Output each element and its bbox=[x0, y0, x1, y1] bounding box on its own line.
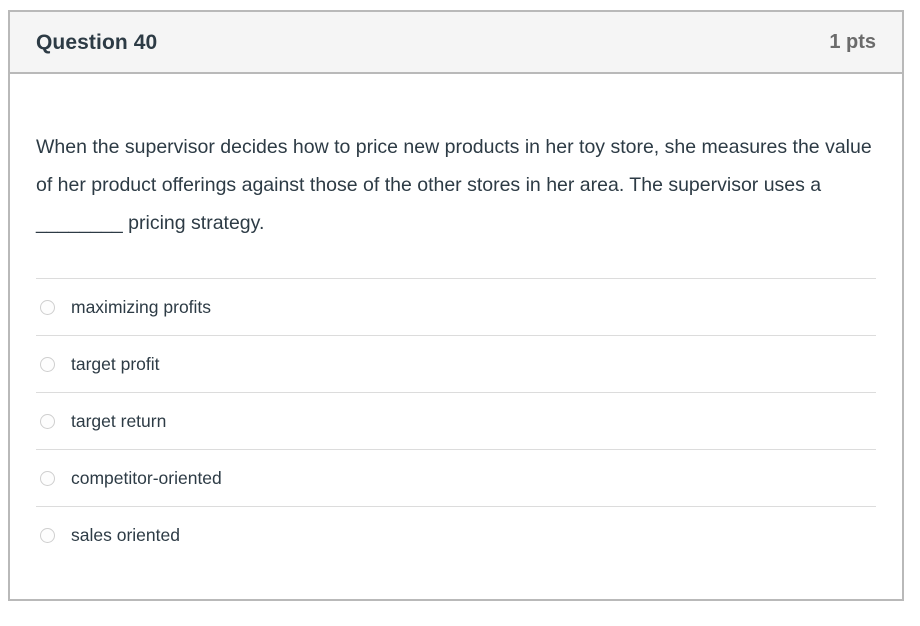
question-points-badge: 1 pts bbox=[829, 32, 876, 52]
answer-option-label: competitor-oriented bbox=[71, 468, 222, 489]
answer-option-label: target return bbox=[71, 411, 166, 432]
radio-button-icon[interactable] bbox=[40, 414, 55, 429]
radio-button-icon[interactable] bbox=[40, 300, 55, 315]
question-header: Question 40 1 pts bbox=[10, 12, 902, 74]
answer-option-row[interactable]: maximizing profits bbox=[36, 278, 876, 335]
answer-option-label: sales oriented bbox=[71, 525, 180, 546]
question-title: Question 40 bbox=[36, 32, 157, 53]
answer-option-row[interactable]: target return bbox=[36, 392, 876, 449]
answer-options-list: maximizing profits target profit target … bbox=[10, 278, 902, 564]
quiz-page: Question 40 1 pts When the supervisor de… bbox=[0, 0, 920, 626]
answer-option-row[interactable]: sales oriented bbox=[36, 506, 876, 564]
question-body: When the supervisor decides how to price… bbox=[10, 74, 902, 564]
radio-button-icon[interactable] bbox=[40, 471, 55, 486]
radio-button-icon[interactable] bbox=[40, 528, 55, 543]
answer-option-row[interactable]: competitor-oriented bbox=[36, 449, 876, 506]
question-prompt-text: When the supervisor decides how to price… bbox=[10, 74, 902, 242]
question-card: Question 40 1 pts When the supervisor de… bbox=[8, 10, 904, 601]
answer-option-row[interactable]: target profit bbox=[36, 335, 876, 392]
radio-button-icon[interactable] bbox=[40, 357, 55, 372]
answer-option-label: target profit bbox=[71, 354, 160, 375]
answer-option-label: maximizing profits bbox=[71, 297, 211, 318]
